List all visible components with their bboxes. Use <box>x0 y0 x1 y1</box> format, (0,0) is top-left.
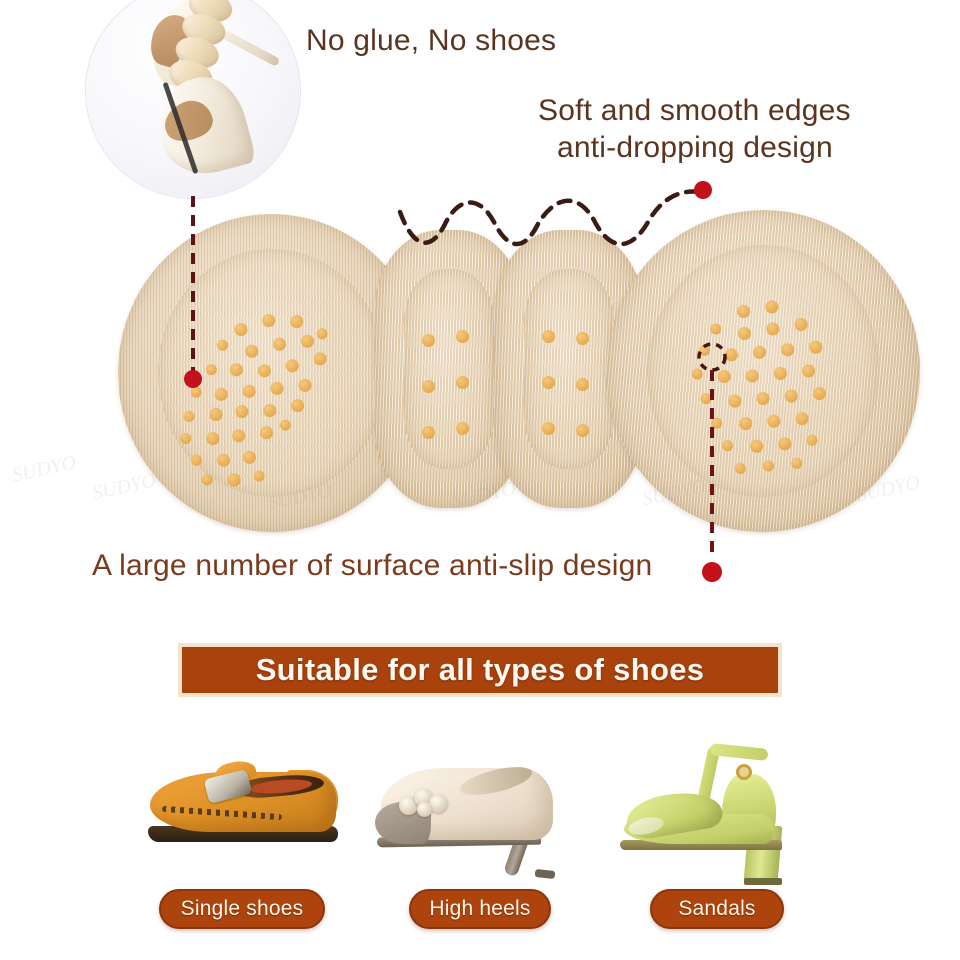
pad-lobe-right <box>598 202 928 540</box>
loafer-shoe-illustration <box>110 728 380 878</box>
label-pill-sandals[interactable]: Sandals <box>650 889 784 929</box>
showcase-item-single-shoes <box>110 728 380 878</box>
product-pad <box>118 196 940 546</box>
watermark: SUDYO <box>10 452 78 488</box>
sandal-shoe-illustration <box>598 718 868 868</box>
marker-dot-bottom-right <box>702 562 722 582</box>
anti-slip-dots-right <box>598 202 928 540</box>
suitable-banner: Suitable for all types of shoes <box>178 643 782 697</box>
suitable-banner-text: Suitable for all types of shoes <box>256 652 705 688</box>
annotation-no-glue: No glue, No shoes <box>306 24 556 58</box>
annotation-soft-edges-line1: Soft and smooth edges <box>538 94 851 128</box>
pump-shoe-illustration <box>355 728 625 878</box>
label-pill-high-heels[interactable]: High heels <box>409 889 551 929</box>
infographic-canvas: No glue, No shoes Soft and smooth edges … <box>0 0 960 960</box>
label-pill-high-heels-text: High heels <box>429 897 530 921</box>
heel-spike <box>222 30 281 67</box>
label-pill-sandals-text: Sandals <box>678 897 755 921</box>
shoe-photo-inset <box>86 0 300 198</box>
label-pill-single-shoes-text: Single shoes <box>181 897 304 921</box>
showcase-item-sandals <box>598 718 868 868</box>
showcase-item-high-heels <box>355 728 625 878</box>
annotation-anti-slip: A large number of surface anti-slip desi… <box>92 549 652 583</box>
annotation-soft-edges-line2: anti-dropping design <box>557 131 833 165</box>
label-pill-single-shoes[interactable]: Single shoes <box>159 889 325 929</box>
